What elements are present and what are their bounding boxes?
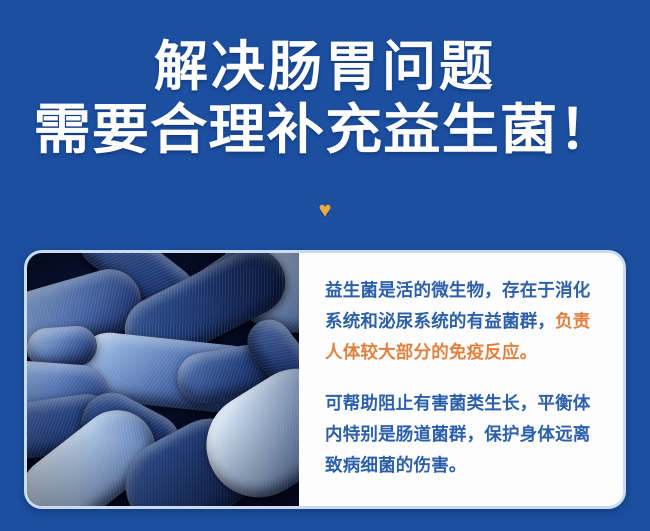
paragraph-1-segment-blue: 益生菌是活的微生物，存在于消化系统和泌尿系统的有益菌群， xyxy=(325,280,591,331)
bacteria-microscopy-image xyxy=(27,253,299,506)
paragraph-2: 可帮助阻止有害菌类生长，平衡体内特别是肠道菌群，保护身体远离致病细菌的伤害。 xyxy=(325,388,603,481)
info-card: 益生菌是活的微生物，存在于消化系统和泌尿系统的有益菌群，负责人体较大部分的免疫反… xyxy=(24,250,626,509)
headline-line-2: 需要合理补充益生菌！ xyxy=(0,98,650,162)
headline: 解决肠胃问题 需要合理补充益生菌！ xyxy=(0,36,650,162)
description-text-column: 益生菌是活的微生物，存在于消化系统和泌尿系统的有益菌群，负责人体较大部分的免疫反… xyxy=(299,253,623,506)
promo-poster: 解决肠胃问题 需要合理补充益生菌！ ♥ 益生菌是活的微生物，存在于消 xyxy=(0,0,650,531)
divider: ♥ xyxy=(0,199,650,222)
headline-line-1: 解决肠胃问题 xyxy=(0,36,650,98)
orange-heart-icon: ♥ xyxy=(318,199,331,221)
paragraph-2-segment-blue: 可帮助阻止有害菌类生长，平衡体内特别是肠道菌群，保护身体远离致病细菌的伤害。 xyxy=(325,393,591,475)
paragraph-1: 益生菌是活的微生物，存在于消化系统和泌尿系统的有益菌群，负责人体较大部分的免疫反… xyxy=(325,275,603,368)
